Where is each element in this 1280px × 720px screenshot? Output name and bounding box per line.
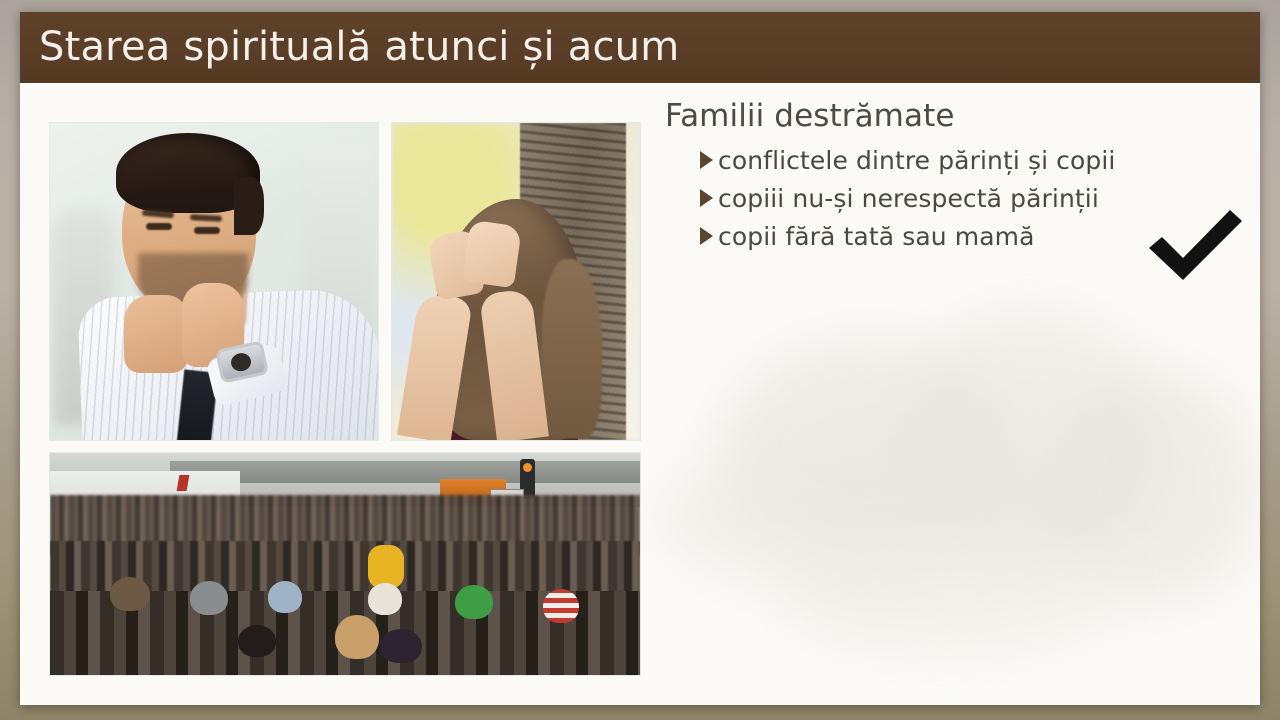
- triangle-right-icon: [700, 189, 713, 207]
- text-panel: Familii destrămate conflictele dintre pă…: [640, 83, 1260, 705]
- bullet-label: copiii nu-și nerespectă părinții: [718, 186, 1099, 211]
- presentation-slide: Starea spirituală atunci și acum: [20, 12, 1260, 705]
- section-heading: Familii destrămate: [665, 98, 955, 134]
- slide-title-bar: Starea spirituală atunci și acum: [20, 12, 1260, 83]
- bullet-label: conflictele dintre părinți și copii: [718, 148, 1115, 173]
- page-title: Starea spirituală atunci și acum: [20, 27, 679, 67]
- pensive-man-photo: [50, 123, 378, 440]
- bullet-label: copii fără tată sau mamă: [718, 224, 1035, 249]
- list-item: conflictele dintre părinți și copii: [700, 141, 1240, 179]
- distressed-woman-photo: [392, 123, 640, 440]
- winter-crowd-photo: [50, 453, 640, 675]
- triangle-right-icon: [700, 227, 713, 245]
- triangle-right-icon: [700, 151, 713, 169]
- slide-content: Familii destrămate conflictele dintre pă…: [20, 83, 1260, 705]
- check-icon: [1145, 208, 1245, 280]
- photo-group: [20, 83, 640, 705]
